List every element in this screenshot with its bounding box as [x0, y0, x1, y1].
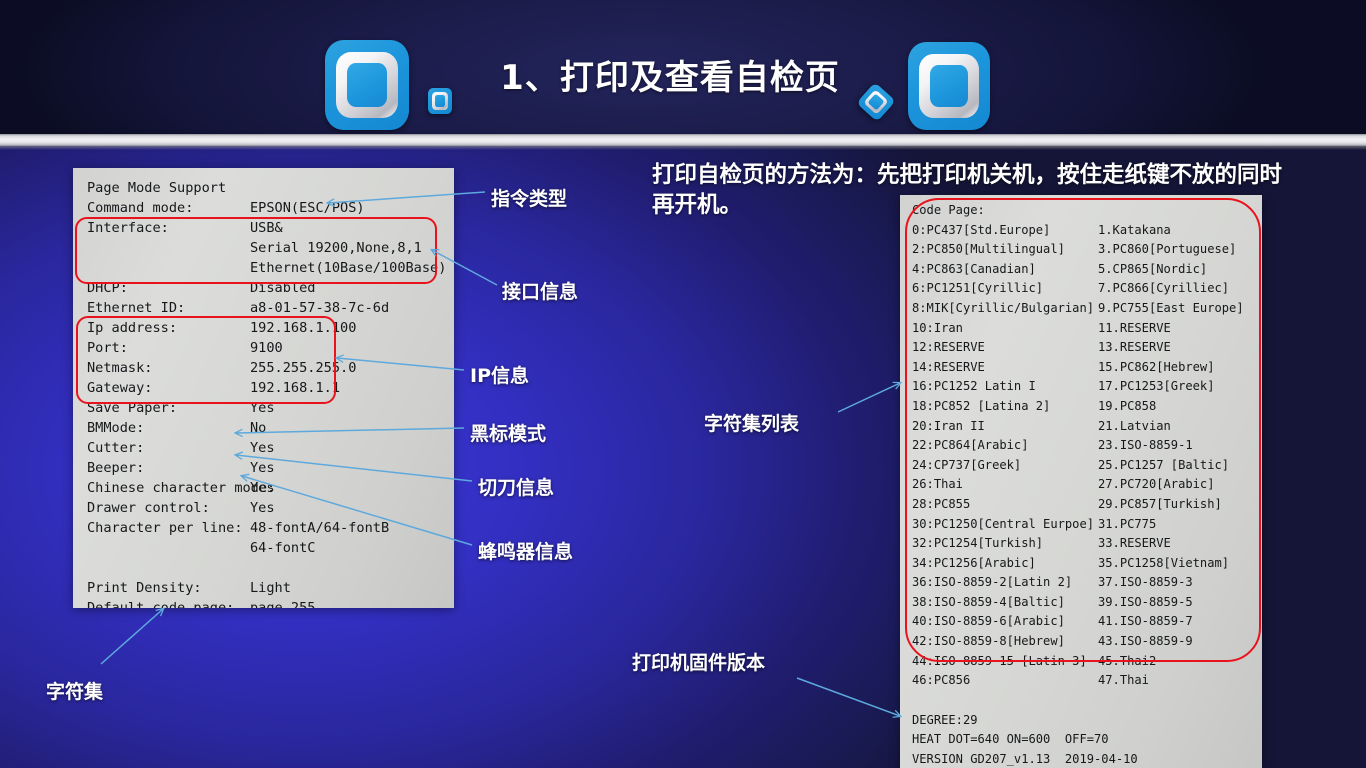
- receipt-line-value: Ethernet(10Base/100Base): [250, 260, 446, 276]
- code-page-right: 31.PC775: [1098, 517, 1156, 531]
- receipt-line: Cutter:Yes: [87, 438, 454, 458]
- code-page-row: 22:PC864[Arabic]23.ISO-8859-1: [912, 436, 1262, 456]
- receipt-line-label: DHCP:: [87, 278, 250, 298]
- receipt-line: Ethernet(10Base/100Base): [87, 258, 454, 278]
- code-page-row: 24:CP737[Greek]25.PC1257 [Baltic]: [912, 456, 1262, 476]
- receipt-line-label: Netmask:: [87, 358, 250, 378]
- code-page-row: 0:PC437[Std.Europe]1.Katakana: [912, 221, 1262, 241]
- receipt-line-value: Yes: [250, 440, 275, 456]
- code-page-row: 42:ISO-8859-8[Hebrew]43.ISO-8859-9: [912, 632, 1262, 652]
- receipt-line: Ethernet ID:a8-01-57-38-7c-6d: [87, 298, 454, 318]
- code-page-left: 34:PC1256[Arabic]: [912, 554, 1098, 574]
- code-page-left: 20:Iran II: [912, 417, 1098, 437]
- code-page-row: 10:Iran11.RESERVE: [912, 319, 1262, 339]
- slide-header: 1、打印及查看自检页: [0, 0, 1366, 136]
- receipt-line-label: BMMode:: [87, 418, 250, 438]
- code-page-row: 12:RESERVE13.RESERVE: [912, 338, 1262, 358]
- receipt-line: Ip address:192.168.1.100: [87, 318, 454, 338]
- receipt-line-value: No: [250, 420, 266, 436]
- code-page-right: 17.PC1253[Greek]: [1098, 379, 1215, 393]
- receipt-line-value: Yes: [250, 460, 275, 476]
- code-page-row: 8:MIK[Cyrillic/Bulgarian]9.PC755[East Eu…: [912, 299, 1262, 319]
- receipt-line-value: a8-01-57-38-7c-6d: [250, 300, 389, 316]
- code-page-left: 42:ISO-8859-8[Hebrew]: [912, 632, 1098, 652]
- code-page-row: 32:PC1254[Turkish]33.RESERVE: [912, 534, 1262, 554]
- code-page-left: 18:PC852 [Latina 2]: [912, 397, 1098, 417]
- receipt-line-label: Default code page:: [87, 598, 250, 608]
- code-page-right: 29.PC857[Turkish]: [1098, 497, 1222, 511]
- code-page-left: 6:PC1251[Cyrillic]: [912, 279, 1098, 299]
- receipt-line-value: Yes: [250, 480, 275, 496]
- code-page-right: 47.Thai: [1098, 673, 1149, 687]
- receipt-line-value: 48-fontA/64-fontB: [250, 520, 389, 536]
- code-page-right: 7.PC866[Cyrilliec]: [1098, 281, 1229, 295]
- receipt-line: Netmask:255.255.255.0: [87, 358, 454, 378]
- code-page-left: 40:ISO-8859-6[Arabic]: [912, 612, 1098, 632]
- code-page-left: 2:PC850[Multilingual]: [912, 240, 1098, 260]
- receipt-line-label: Cutter:: [87, 438, 250, 458]
- code-page-left: 26:Thai: [912, 475, 1098, 495]
- annotation-cutter-info: 切刀信息: [478, 473, 554, 500]
- code-page-right: 39.ISO-8859-5: [1098, 595, 1193, 609]
- code-page-right: 35.PC1258[Vietnam]: [1098, 556, 1229, 570]
- code-page-left: 10:Iran: [912, 319, 1098, 339]
- code-page-left: 44:ISO-8859-15 [Latin 3]: [912, 652, 1098, 672]
- code-page-row: 20:Iran II21.Latvian: [912, 417, 1262, 437]
- receipt-line: BMMode:No: [87, 418, 454, 438]
- receipt-line: [87, 558, 454, 578]
- code-page-left: 30:PC1250[Central Eurpoe]: [912, 515, 1098, 535]
- instruction-text: 打印自检页的方法为：先把打印机关机，按住走纸键不放的同时再开机。: [652, 160, 1302, 220]
- receipt-line-label: Character per line:: [87, 518, 250, 538]
- code-page-right: 27.PC720[Arabic]: [1098, 477, 1215, 491]
- code-page-row: 6:PC1251[Cyrillic]7.PC866[Cyrilliec]: [912, 279, 1262, 299]
- annotation-command-type: 指令类型: [491, 184, 567, 211]
- code-page-row: 4:PC863[Canadian]5.CP865[Nordic]: [912, 260, 1262, 280]
- code-page-row: 30:PC1250[Central Eurpoe]31.PC775: [912, 515, 1262, 535]
- code-page-row: 2:PC850[Multilingual]3.PC860[Portuguese]: [912, 240, 1262, 260]
- code-page-row: 38:ISO-8859-4[Baltic]39.ISO-8859-5: [912, 593, 1262, 613]
- annotation-firmware-version: 打印机固件版本: [632, 648, 765, 675]
- receipt-line-label: Ip address:: [87, 318, 250, 338]
- code-page-right: 1.Katakana: [1098, 223, 1171, 237]
- code-page-row: 16:PC1252 Latin I17.PC1253[Greek]: [912, 377, 1262, 397]
- receipt-line: Port:9100: [87, 338, 454, 358]
- code-page-right: 21.Latvian: [1098, 419, 1171, 433]
- receipt-line: Page Mode Support: [87, 178, 454, 198]
- code-page-right: 9.PC755[East Europe]: [1098, 301, 1244, 315]
- annotation-charset: 字符集: [46, 677, 103, 704]
- receipt-line: Drawer control:Yes: [87, 498, 454, 518]
- code-page-right: 19.PC858: [1098, 399, 1156, 413]
- code-page-left: 32:PC1254[Turkish]: [912, 534, 1098, 554]
- code-page-right: 3.PC860[Portuguese]: [1098, 242, 1236, 256]
- receipt-line-value: 192.168.1.1: [250, 380, 340, 396]
- receipt-line-value: USB&: [250, 220, 283, 236]
- receipt-line-value: Light: [250, 580, 291, 596]
- annotation-beeper-info: 蜂鸣器信息: [478, 537, 573, 564]
- code-page-right: 23.ISO-8859-1: [1098, 438, 1193, 452]
- code-page-left: 46:PC856: [912, 671, 1098, 691]
- code-page-row: 44:ISO-8859-15 [Latin 3]45.Thai2: [912, 652, 1262, 672]
- annotation-charset-list: 字符集列表: [704, 409, 799, 436]
- firmware-line: DEGREE:29: [912, 711, 1262, 731]
- code-page-left: 0:PC437[Std.Europe]: [912, 221, 1098, 241]
- receipt-line-value: Yes: [250, 500, 275, 516]
- receipt-line-value: Serial 19200,None,8,1: [250, 240, 422, 256]
- code-page-left: 8:MIK[Cyrillic/Bulgarian]: [912, 299, 1098, 319]
- receipt-line-label: Drawer control:: [87, 498, 250, 518]
- receipt-line: Character per line:48-fontA/64-fontB: [87, 518, 454, 538]
- receipt-line: 64-fontC: [87, 538, 454, 558]
- code-page-right: 41.ISO-8859-7: [1098, 614, 1193, 628]
- code-page-row: 14:RESERVE15.PC862[Hebrew]: [912, 358, 1262, 378]
- code-page-left: 14:RESERVE: [912, 358, 1098, 378]
- code-page-row: 26:Thai27.PC720[Arabic]: [912, 475, 1262, 495]
- annotation-black-mark-mode: 黑标模式: [470, 419, 546, 446]
- code-page-row: 28:PC85529.PC857[Turkish]: [912, 495, 1262, 515]
- receipt-line-value: 64-fontC: [250, 540, 315, 556]
- receipt-line-label: Interface:: [87, 218, 250, 238]
- receipt-line: DHCP:Disabled: [87, 278, 454, 298]
- code-page-row: 46:PC85647.Thai: [912, 671, 1262, 691]
- code-page-left: 38:ISO-8859-4[Baltic]: [912, 593, 1098, 613]
- code-page-right: 13.RESERVE: [1098, 340, 1171, 354]
- page-title: 1、打印及查看自检页: [430, 50, 910, 110]
- code-page-left: 24:CP737[Greek]: [912, 456, 1098, 476]
- receipt-line-label: Chinese character mode:: [87, 478, 250, 498]
- code-page-right: 25.PC1257 [Baltic]: [1098, 458, 1229, 472]
- code-page-left: 12:RESERVE: [912, 338, 1098, 358]
- header-divider-bar: [0, 134, 1366, 146]
- receipt-line-label: Ethernet ID:: [87, 298, 250, 318]
- code-page-left: 16:PC1252 Latin I: [912, 377, 1098, 397]
- header-divider-glow: [0, 146, 1366, 150]
- receipt-line: Default code page:page 255: [87, 598, 454, 608]
- firmware-line: HEAT DOT=640 ON=600 OFF=70: [912, 730, 1262, 750]
- receipt-line-value: page 255: [250, 600, 315, 608]
- receipt-line: Chinese character mode:Yes: [87, 478, 454, 498]
- firmware-info-block: DEGREE:29HEAT DOT=640 ON=600 OFF=70VERSI…: [912, 711, 1262, 768]
- code-page-row: 34:PC1256[Arabic]35.PC1258[Vietnam]: [912, 554, 1262, 574]
- brand-logo-right-icon: [908, 42, 990, 130]
- receipt-line-value: 9100: [250, 340, 283, 356]
- receipt-line-value: Disabled: [250, 280, 315, 296]
- code-page-right: 11.RESERVE: [1098, 321, 1171, 335]
- receipt-line: Interface:USB&: [87, 218, 454, 238]
- code-page-right: 37.ISO-8859-3: [1098, 575, 1193, 589]
- self-test-receipt-right: Code Page: 0:PC437[Std.Europe]1.Katakana…: [900, 195, 1262, 768]
- receipt-line: Save Paper:Yes: [87, 398, 454, 418]
- brand-logo-icon: [325, 40, 409, 130]
- code-page-right: 43.ISO-8859-9: [1098, 634, 1193, 648]
- code-page-list: 0:PC437[Std.Europe]1.Katakana2:PC850[Mul…: [912, 221, 1262, 691]
- code-page-right: 15.PC862[Hebrew]: [1098, 360, 1215, 374]
- receipt-line-label: Command mode:: [87, 198, 250, 218]
- firmware-line: VERSION GD207_v1.13 2019-04-10: [912, 750, 1262, 768]
- code-page-left: 4:PC863[Canadian]: [912, 260, 1098, 280]
- code-page-right: 33.RESERVE: [1098, 536, 1171, 550]
- receipt-line: Serial 19200,None,8,1: [87, 238, 454, 258]
- receipt-line: Gateway:192.168.1.1: [87, 378, 454, 398]
- receipt-line-label: Beeper:: [87, 458, 250, 478]
- slide-canvas: 1、打印及查看自检页 Page Mode SupportCommand mode…: [0, 0, 1366, 768]
- code-page-left: 22:PC864[Arabic]: [912, 436, 1098, 456]
- code-page-row: 36:ISO-8859-2[Latin 2]37.ISO-8859-3: [912, 573, 1262, 593]
- receipt-line-label: Gateway:: [87, 378, 250, 398]
- receipt-left-lines: Page Mode SupportCommand mode:EPSON(ESC/…: [87, 178, 454, 608]
- receipt-line: Beeper:Yes: [87, 458, 454, 478]
- receipt-line: Print Density:Light: [87, 578, 454, 598]
- receipt-line-value: Yes: [250, 400, 275, 416]
- annotation-interface-info: 接口信息: [502, 277, 578, 304]
- receipt-line-label: Save Paper:: [87, 398, 250, 418]
- code-page-row: 40:ISO-8859-6[Arabic]41.ISO-8859-7: [912, 612, 1262, 632]
- receipt-line-label: Port:: [87, 338, 250, 358]
- receipt-line-value: 255.255.255.0: [250, 360, 356, 376]
- code-page-left: 28:PC855: [912, 495, 1098, 515]
- code-page-right: 5.CP865[Nordic]: [1098, 262, 1207, 276]
- code-page-left: 36:ISO-8859-2[Latin 2]: [912, 573, 1098, 593]
- annotation-ip-info: IP信息: [470, 361, 529, 388]
- self-test-receipt-left: Page Mode SupportCommand mode:EPSON(ESC/…: [73, 168, 454, 608]
- receipt-line-label: Print Density:: [87, 578, 250, 598]
- receipt-line-value: EPSON(ESC/POS): [250, 200, 365, 216]
- receipt-line-label: Page Mode Support: [87, 178, 250, 198]
- receipt-line: Command mode:EPSON(ESC/POS): [87, 198, 454, 218]
- receipt-line-value: 192.168.1.100: [250, 320, 356, 336]
- code-page-right: 45.Thai2: [1098, 654, 1156, 668]
- code-page-row: 18:PC852 [Latina 2]19.PC858: [912, 397, 1262, 417]
